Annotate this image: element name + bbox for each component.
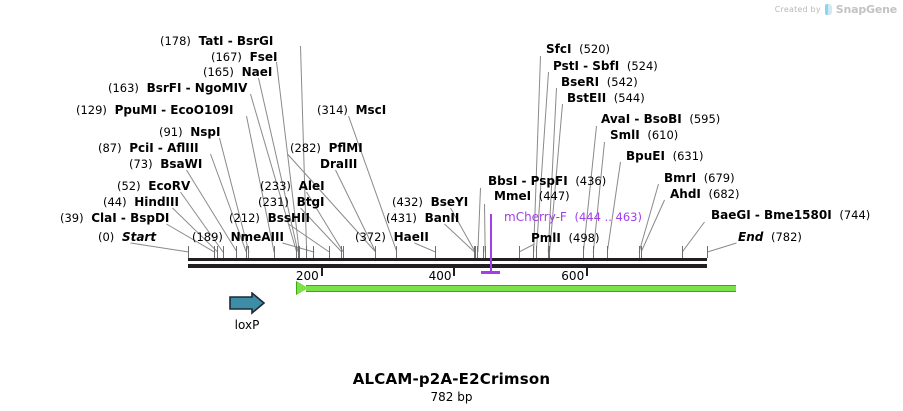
sequence-backbone-bottom [188, 264, 707, 268]
site-enzyme-name: EcoRV [148, 179, 190, 193]
cut-site-tick [639, 246, 640, 258]
site-label-alei[interactable]: (233) AleI [260, 180, 325, 192]
site-position: (91) [159, 125, 183, 139]
site-label-psti-sbfi[interactable]: PstI - SbfI (524) [553, 60, 658, 72]
ruler-tick [321, 268, 323, 276]
site-enzyme-name: PciI - AflIII [129, 141, 198, 155]
site-enzyme-name: BmrI [664, 171, 696, 185]
cut-site-tick [246, 246, 247, 258]
cut-site-tick [274, 246, 275, 258]
site-position: (610) [647, 128, 678, 142]
site-enzyme-name: NaeI [242, 65, 273, 79]
coding-arrow-shaft [306, 285, 736, 292]
site-position: (282) [290, 141, 321, 155]
site-position: (87) [98, 141, 122, 155]
site-enzyme-name: AhdI [670, 187, 701, 201]
site-position: (73) [129, 157, 153, 171]
site-enzyme-name: mCherry-F [504, 210, 567, 224]
site-position: (129) [76, 103, 107, 117]
site-position: (682) [709, 187, 740, 201]
site-enzyme-name: BseRI [561, 75, 599, 89]
loxp-arrow-icon [228, 292, 266, 316]
site-label-mmei[interactable]: MmeI (447) [494, 190, 570, 202]
site-label-sfci[interactable]: SfcI (520) [546, 43, 610, 55]
site-position: (163) [108, 81, 139, 95]
site-enzyme-name: BpuEI [626, 149, 665, 163]
site-enzyme-name: BbsI - PspFI [488, 174, 568, 188]
site-label-start[interactable]: (0) Start [98, 231, 156, 243]
mcherry-f-leader [490, 214, 492, 274]
site-enzyme-name: BaeGI - Bme1580I [711, 208, 832, 222]
site-enzyme-name: BtgI [297, 195, 325, 209]
site-position: (744) [839, 208, 870, 222]
ruler-tick [453, 268, 455, 276]
site-label-ahdi[interactable]: AhdI (682) [670, 188, 739, 200]
ruler-tick [586, 268, 588, 276]
watermark-brand: SnapGene [836, 3, 897, 16]
site-enzyme-name: AvaI - BsoBI [601, 112, 682, 126]
site-enzyme-name: HaeII [394, 230, 429, 244]
cut-site-tick [306, 246, 307, 258]
cut-site-tick [477, 246, 478, 258]
site-position: (444 .. 463) [574, 210, 642, 224]
label-leader-line [130, 243, 188, 253]
site-position: (524) [627, 59, 658, 73]
cut-site-tick [223, 246, 224, 258]
site-label-banii[interactable]: (431) BanII [386, 212, 459, 224]
site-label-end[interactable]: End (782) [738, 231, 802, 243]
site-enzyme-name: NspI [190, 125, 220, 139]
site-label-pmli[interactable]: PmlI (498) [531, 232, 599, 244]
site-label-tati-bsrgi[interactable]: (178) TatI - BsrGI [160, 35, 273, 47]
site-position: (165) [203, 65, 234, 79]
site-enzyme-name: BsrFI - NgoMIV [147, 81, 248, 95]
site-enzyme-name: MmeI [494, 189, 531, 203]
site-position: (314) [317, 103, 348, 117]
site-enzyme-name: BstEII [567, 91, 606, 105]
site-label-haeii[interactable]: (372) HaeII [355, 231, 429, 243]
site-label-mcherry-f[interactable]: mCherry-F (444 .. 463) [504, 211, 642, 223]
site-label-bbsi-pspfi[interactable]: BbsI - PspFI (436) [488, 175, 606, 187]
site-label-ecorv[interactable]: (52) EcoRV [117, 180, 190, 192]
site-enzyme-name: MscI [356, 103, 387, 117]
snapgene-watermark: Created by SnapGene [775, 3, 897, 16]
site-enzyme-name: HindIII [134, 195, 179, 209]
site-label-smli[interactable]: SmlI (610) [610, 129, 678, 141]
site-enzyme-name: PmlI [531, 231, 561, 245]
site-position: (436) [575, 174, 606, 188]
coding-region-arrow[interactable] [296, 281, 737, 295]
sequence-length: 782 bp [0, 390, 903, 404]
cut-site-tick [475, 246, 476, 258]
cut-site-tick [236, 246, 237, 258]
site-position: (189) [192, 230, 223, 244]
site-label-bsrfi-ngomiv[interactable]: (163) BsrFI - NgoMIV [108, 82, 247, 94]
site-label-btgi[interactable]: (231) BtgI [258, 196, 325, 208]
site-label-clai-bspdi[interactable]: (39) ClaI - BspDI [60, 212, 169, 224]
site-position: (431) [386, 211, 417, 225]
site-label-baegi-bme1580i[interactable]: BaeGI - Bme1580I (744) [711, 209, 870, 221]
snapgene-logo-icon: SnapGene [825, 3, 897, 16]
site-position: (544) [614, 91, 645, 105]
site-enzyme-name: PpuMI - EcoO109I [115, 103, 234, 117]
site-position: (542) [607, 75, 638, 89]
site-label-nmeaiii[interactable]: (189) NmeAIII [192, 231, 284, 243]
mcherry-f-feature-bar[interactable] [481, 271, 500, 274]
site-position: (631) [673, 149, 704, 163]
loxp-label: loxP [228, 318, 266, 332]
site-label-fsei[interactable]: (167) FseI [211, 51, 278, 63]
cut-site-tick [682, 246, 683, 258]
site-enzyme-name: PstI - SbfI [553, 59, 619, 73]
cut-site-tick [248, 246, 249, 258]
label-leader-line [414, 243, 435, 253]
cut-site-tick [607, 246, 608, 258]
cut-site-tick [396, 246, 397, 258]
cut-site-tick [483, 246, 484, 258]
site-label-bmri[interactable]: BmrI (679) [664, 172, 735, 184]
site-label-avai-bsobi[interactable]: AvaI - BsoBI (595) [601, 113, 720, 125]
label-leader-line [641, 200, 665, 252]
site-position: (782) [771, 230, 802, 244]
site-enzyme-name: DraIII [320, 157, 357, 171]
site-position: (595) [689, 112, 720, 126]
page-title: ALCAM-p2A-E2Crimson [0, 370, 903, 388]
site-position: (167) [211, 50, 242, 64]
cut-site-tick [217, 246, 218, 258]
site-label-naei[interactable]: (165) NaeI [203, 66, 272, 78]
site-label-draiii[interactable]: DraIII [320, 158, 357, 170]
cut-site-tick [536, 246, 537, 258]
site-position: (372) [355, 230, 386, 244]
sequence-map-canvas: Created by SnapGene 200400600 loxP (178)… [0, 0, 903, 411]
cut-site-tick [214, 246, 215, 258]
cut-site-tick [343, 246, 344, 258]
site-enzyme-name: BsaWI [160, 157, 202, 171]
site-position: (679) [704, 171, 735, 185]
site-label-bsawi[interactable]: (73) BsaWI [129, 158, 202, 170]
label-leader-line [707, 243, 736, 253]
site-position: (212) [229, 211, 260, 225]
site-enzyme-name: BssHII [268, 211, 310, 225]
site-position: (44) [103, 195, 127, 209]
cut-site-tick [313, 246, 314, 258]
cut-site-tick [519, 246, 520, 258]
site-label-ppumi-ecoo109i[interactable]: (129) PpuMI - EcoO109I [76, 104, 234, 116]
site-enzyme-name: End [738, 230, 763, 244]
label-leader-line [607, 162, 621, 252]
site-label-pcii-afliii[interactable]: (87) PciI - AflIII [98, 142, 199, 154]
snapgene-mark-icon [825, 4, 833, 15]
cut-site-tick [707, 246, 708, 258]
sequence-backbone-top [188, 258, 707, 261]
site-label-pflmi[interactable]: (282) PflMI [290, 142, 363, 154]
site-position: (432) [392, 195, 423, 209]
cut-site-tick [375, 246, 376, 258]
watermark-prefix: Created by [775, 5, 821, 14]
site-position: (447) [539, 189, 570, 203]
cut-site-tick [435, 246, 436, 258]
label-leader-line [444, 224, 475, 253]
site-position: (498) [569, 231, 600, 245]
site-enzyme-name: SmlI [610, 128, 640, 142]
site-label-msci[interactable]: (314) MscI [317, 104, 386, 116]
cut-site-tick [485, 246, 486, 258]
cut-site-tick [533, 246, 534, 258]
cut-site-tick [641, 246, 642, 258]
site-enzyme-name: FseI [250, 50, 278, 64]
cut-site-tick [593, 246, 594, 258]
site-enzyme-name: TatI - BsrGI [199, 34, 274, 48]
site-enzyme-name: BanII [425, 211, 460, 225]
site-position: (0) [98, 230, 114, 244]
site-position: (178) [160, 34, 191, 48]
cut-site-tick [549, 246, 550, 258]
site-label-bseri[interactable]: BseRI (542) [561, 76, 638, 88]
site-label-bsshii[interactable]: (212) BssHII [229, 212, 310, 224]
site-enzyme-name: BseYI [431, 195, 469, 209]
site-enzyme-name: NmeAIII [231, 230, 284, 244]
label-leader-line [477, 188, 481, 252]
site-position: (52) [117, 179, 141, 193]
site-position: (39) [60, 211, 84, 225]
site-label-nspi[interactable]: (91) NspI [159, 126, 221, 138]
label-leader-line [484, 204, 486, 252]
site-enzyme-name: SfcI [546, 42, 571, 56]
site-enzyme-name: PflMI [329, 141, 363, 155]
site-enzyme-name: ClaI - BspDI [91, 211, 169, 225]
cut-site-tick [583, 246, 584, 258]
site-label-bsteii[interactable]: BstEII (544) [567, 92, 645, 104]
site-position: (520) [579, 42, 610, 56]
site-label-bseyi[interactable]: (432) BseYI [392, 196, 468, 208]
site-enzyme-name: Start [122, 230, 156, 244]
cut-site-tick [188, 246, 189, 258]
label-leader-line [682, 222, 705, 253]
site-enzyme-name: AleI [299, 179, 325, 193]
site-label-bpuei[interactable]: BpuEI (631) [626, 150, 704, 162]
site-label-hindiii[interactable]: (44) HindIII [103, 196, 179, 208]
site-position: (233) [260, 179, 291, 193]
cut-site-tick [299, 246, 300, 258]
site-position: (231) [258, 195, 289, 209]
cut-site-tick [329, 246, 330, 258]
